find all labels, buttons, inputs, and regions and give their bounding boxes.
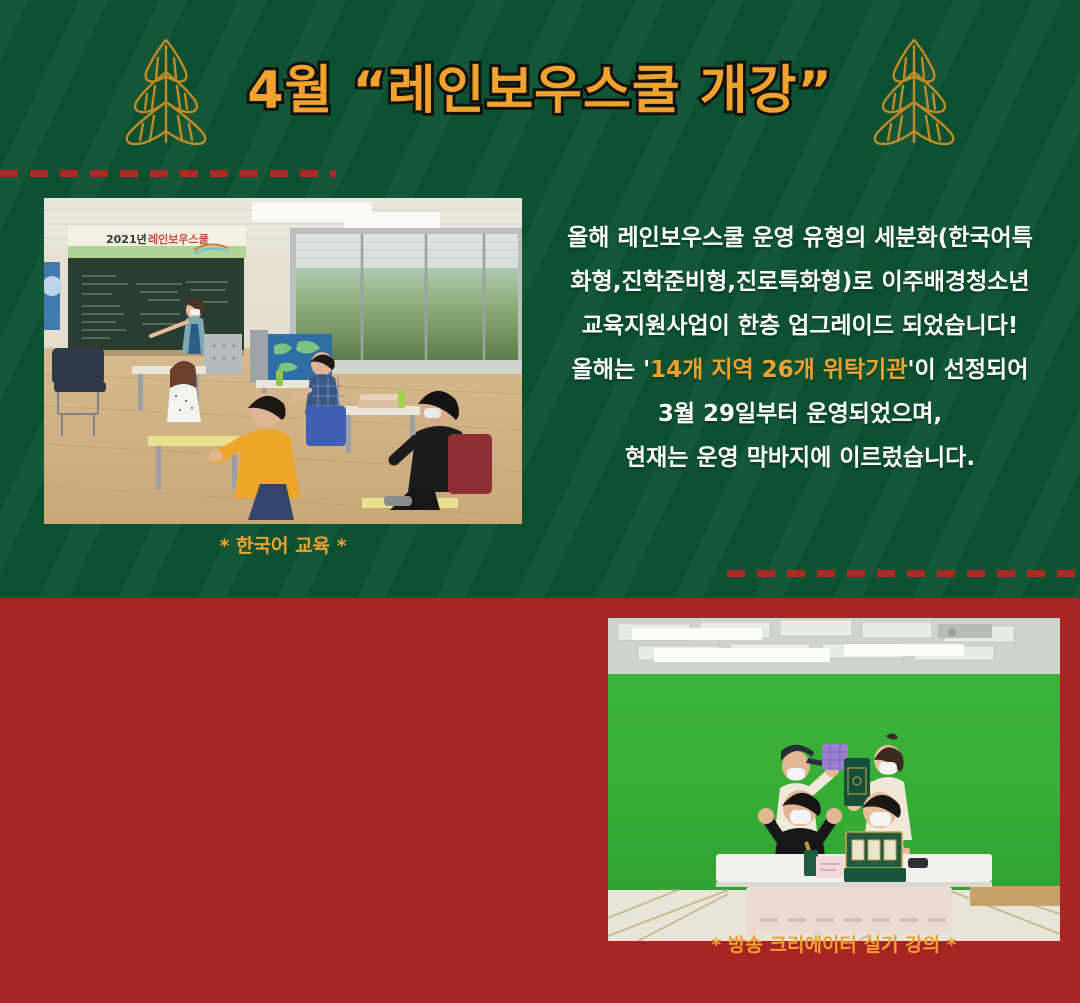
green-text-line-6: 현재는 운영 막바지에 이르렀습니다. — [526, 436, 1074, 480]
title-row: 4월 “레인보우스쿨 개강” — [0, 22, 1080, 162]
caption-korean-class: * 한국어 교육 * — [44, 531, 522, 558]
svg-text:2021년: 2021년 — [106, 232, 147, 246]
photo-korean-class: 2021년 레인보우스쿨 — [44, 198, 522, 524]
pine-tree-icon-left — [111, 32, 221, 152]
green-text-line-2: 화형,진학준비형,진로특화형)로 이주배경청소년 — [526, 260, 1074, 304]
caption-broadcast-creator: * 방송 크리에이터 실기 강의 * — [608, 930, 1060, 957]
green-text-line-3: 교육지원사업이 한층 업그레이드 되었습니다! — [526, 304, 1074, 348]
photo-broadcast-creator-class — [608, 618, 1060, 941]
green-text-line-1: 올해 레인보우스쿨 운영 유형의 세분화(한국어특 — [526, 216, 1074, 260]
dashed-divider-top — [0, 170, 336, 177]
line4-suffix: 이 선정되어 — [915, 357, 1029, 383]
green-text-line-5: 3월 29일부터 운영되었으며, — [526, 392, 1074, 436]
svg-text:레인보우스쿨: 레인보우스쿨 — [148, 232, 209, 246]
green-text-line-4: 올해는 '14개 지역 26개 위탁기관'이 선정되어 — [526, 348, 1074, 392]
line4-quote-close: ' — [908, 357, 915, 383]
line4-prefix: 올해는 — [572, 357, 644, 383]
poster-canvas: 4월 “레인보우스쿨 개강” — [0, 0, 1080, 1003]
line4-highlight: 14개 지역 26개 위탁기관 — [650, 357, 907, 383]
page-title: 4월 “레인보우스쿨 개강” — [247, 63, 832, 120]
pine-tree-icon-right — [859, 32, 969, 152]
dashed-divider-right — [727, 570, 1080, 577]
green-section: 4월 “레인보우스쿨 개강” — [0, 0, 1080, 598]
red-section: 특히, 레인보우스쿨의 진로특화형인 ‘무지개Job아라’와 ‘내-일을 잡아라… — [0, 598, 1080, 1003]
green-body-text: 올해 레인보우스쿨 운영 유형의 세분화(한국어특 화형,진학준비형,진로특화형… — [526, 216, 1074, 480]
